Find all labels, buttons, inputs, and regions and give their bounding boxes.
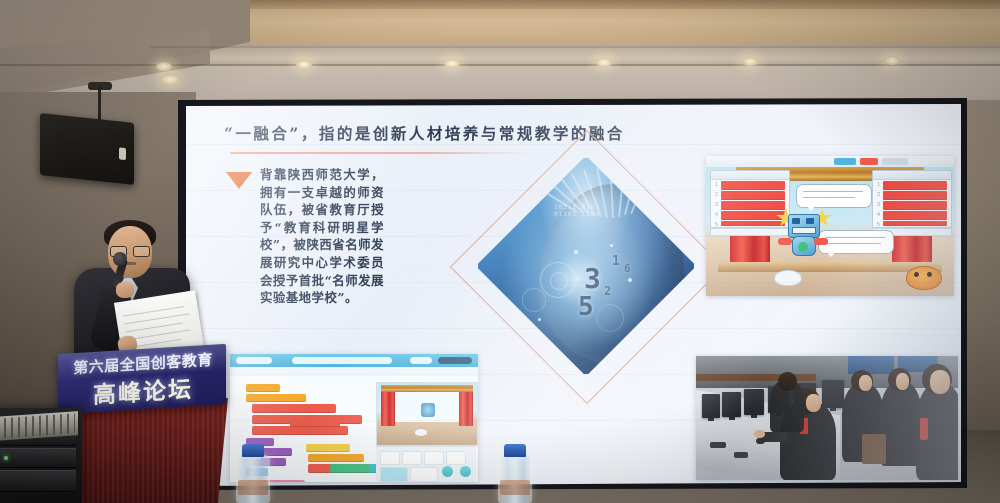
code-block[interactable] <box>246 394 306 402</box>
lab-person-face <box>896 373 909 390</box>
digit-glyph: 6 <box>624 262 631 275</box>
confirm-button[interactable] <box>834 158 856 165</box>
conference-hall-scene: “一融合”，指的是创新人材培养与常规教学的融合 背靠陕西师范大学，拥有一支卓越的… <box>0 0 1000 503</box>
podium <box>62 398 232 503</box>
lab-person-lanyard <box>920 418 928 440</box>
diamond-clip: 10110 010101101 1100 3 5 1 6 2 <box>476 156 697 377</box>
podium-wood-grain <box>62 398 232 503</box>
lab-trim <box>696 374 816 381</box>
circuit-node <box>538 318 541 321</box>
presentation-slide: “一融合”，指的是创新人材培养与常规教学的融合 背靠陕西师范大学，拥有一支卓越的… <box>186 104 961 486</box>
lab-person-face <box>859 375 872 391</box>
monitor-icon <box>702 394 720 418</box>
lab-chair <box>862 434 886 464</box>
downlight-icon <box>596 58 612 67</box>
bottle-label <box>238 480 268 495</box>
monitor-icon <box>744 389 764 415</box>
sprite-chip[interactable] <box>402 451 422 465</box>
presenter-hand-mic <box>116 282 134 298</box>
output-list-header <box>873 171 951 180</box>
digit-glyph: 3 <box>584 262 601 295</box>
cat-eye-left <box>914 272 919 277</box>
stop-button[interactable] <box>860 158 878 165</box>
robot-arm-left <box>778 238 792 245</box>
input-list-header <box>711 171 789 180</box>
ceiling-seam <box>0 64 1000 66</box>
editor-account[interactable] <box>438 357 472 364</box>
sprite-tray <box>376 446 476 482</box>
robot-sprite <box>421 403 435 417</box>
speech-bubble-tail <box>826 251 836 257</box>
circuit-ring <box>522 288 546 312</box>
title-underline <box>230 152 530 154</box>
digit-glyph: 2 <box>604 284 611 298</box>
white-cat-sprite <box>774 270 802 286</box>
add-sprite-button[interactable] <box>442 466 453 477</box>
sprite-chip[interactable] <box>424 451 444 465</box>
editor-toolbar <box>230 354 478 367</box>
code-block[interactable] <box>246 384 280 392</box>
bottle-cap <box>504 444 526 457</box>
keyboard-icon <box>734 452 748 458</box>
code-block[interactable] <box>252 404 336 413</box>
ceiling-speaker-icon <box>40 113 134 185</box>
sprite-chip[interactable] <box>380 451 400 465</box>
monitor-icon <box>822 380 844 408</box>
rack-unit <box>0 448 76 468</box>
toolbar-chip <box>882 158 908 165</box>
output-list-panel: 1 2 3 4 5 <box>872 170 952 228</box>
editor-menu[interactable] <box>236 357 272 364</box>
downlight-icon <box>884 56 900 65</box>
sprite-thumb[interactable] <box>380 467 408 482</box>
circuit-node <box>610 244 613 247</box>
sprite-chip[interactable] <box>446 451 466 465</box>
code-block[interactable] <box>252 426 348 435</box>
keyboard-icon <box>710 442 726 448</box>
rack-unit <box>0 470 76 492</box>
editor-action[interactable] <box>410 357 432 364</box>
circuit-node <box>574 250 578 254</box>
sprite-thumb[interactable] <box>410 467 438 482</box>
cat-sprite <box>415 429 427 436</box>
digit-glyph: 1 <box>612 254 620 269</box>
robot-mouth <box>792 227 816 234</box>
digit-glyph: 5 <box>578 292 594 322</box>
speech-bubble-tail <box>806 205 816 211</box>
scratch-stage-screenshot: 1 2 3 4 5 1 2 3 4 5 <box>706 156 954 296</box>
input-list-panel: 1 2 3 4 5 <box>710 170 790 228</box>
circuit-ring <box>550 272 568 290</box>
robot-arm-right <box>814 238 828 245</box>
ai-brain-diamond-image: 10110 010101101 1100 3 5 1 6 2 <box>486 166 686 366</box>
downlight-icon <box>742 57 758 66</box>
robot-eye-right <box>806 218 814 224</box>
robot-eye-left <box>792 218 800 224</box>
downlight-icon <box>444 59 460 68</box>
lab-person-hand <box>754 430 765 438</box>
bottle-cap <box>242 444 264 457</box>
water-bottle-right <box>498 455 532 503</box>
podium-banner: 第六届全国创客教育 高峰论坛 <box>58 344 226 414</box>
ceiling-seam-upper <box>150 46 1000 48</box>
lab-person-face <box>806 394 821 412</box>
scratch-cat-sprite <box>906 266 942 290</box>
triangle-down-icon <box>226 172 252 189</box>
mixer-knobs <box>0 413 75 438</box>
downlight-icon <box>156 62 172 71</box>
downlight-icon <box>296 60 312 69</box>
speaker-rod <box>98 86 101 122</box>
downlight-icon <box>160 74 180 85</box>
binary-text: 10110 010101101 1100 <box>554 204 600 218</box>
code-block[interactable] <box>306 444 350 452</box>
slide-title: “一融合”，指的是创新人材培养与常规教学的融合 <box>224 122 924 144</box>
cat-eye-right <box>927 272 932 277</box>
project-name-input[interactable] <box>292 357 392 364</box>
microphone-head-icon <box>113 252 127 266</box>
editor-stage-preview <box>376 382 478 446</box>
bottle-label <box>500 480 530 495</box>
robot-core <box>798 242 808 252</box>
water-bottle-left <box>236 455 270 503</box>
monitor-icon <box>722 392 741 417</box>
input-list-footer <box>710 228 790 236</box>
add-backdrop-button[interactable] <box>460 466 471 477</box>
code-block[interactable] <box>308 454 364 462</box>
